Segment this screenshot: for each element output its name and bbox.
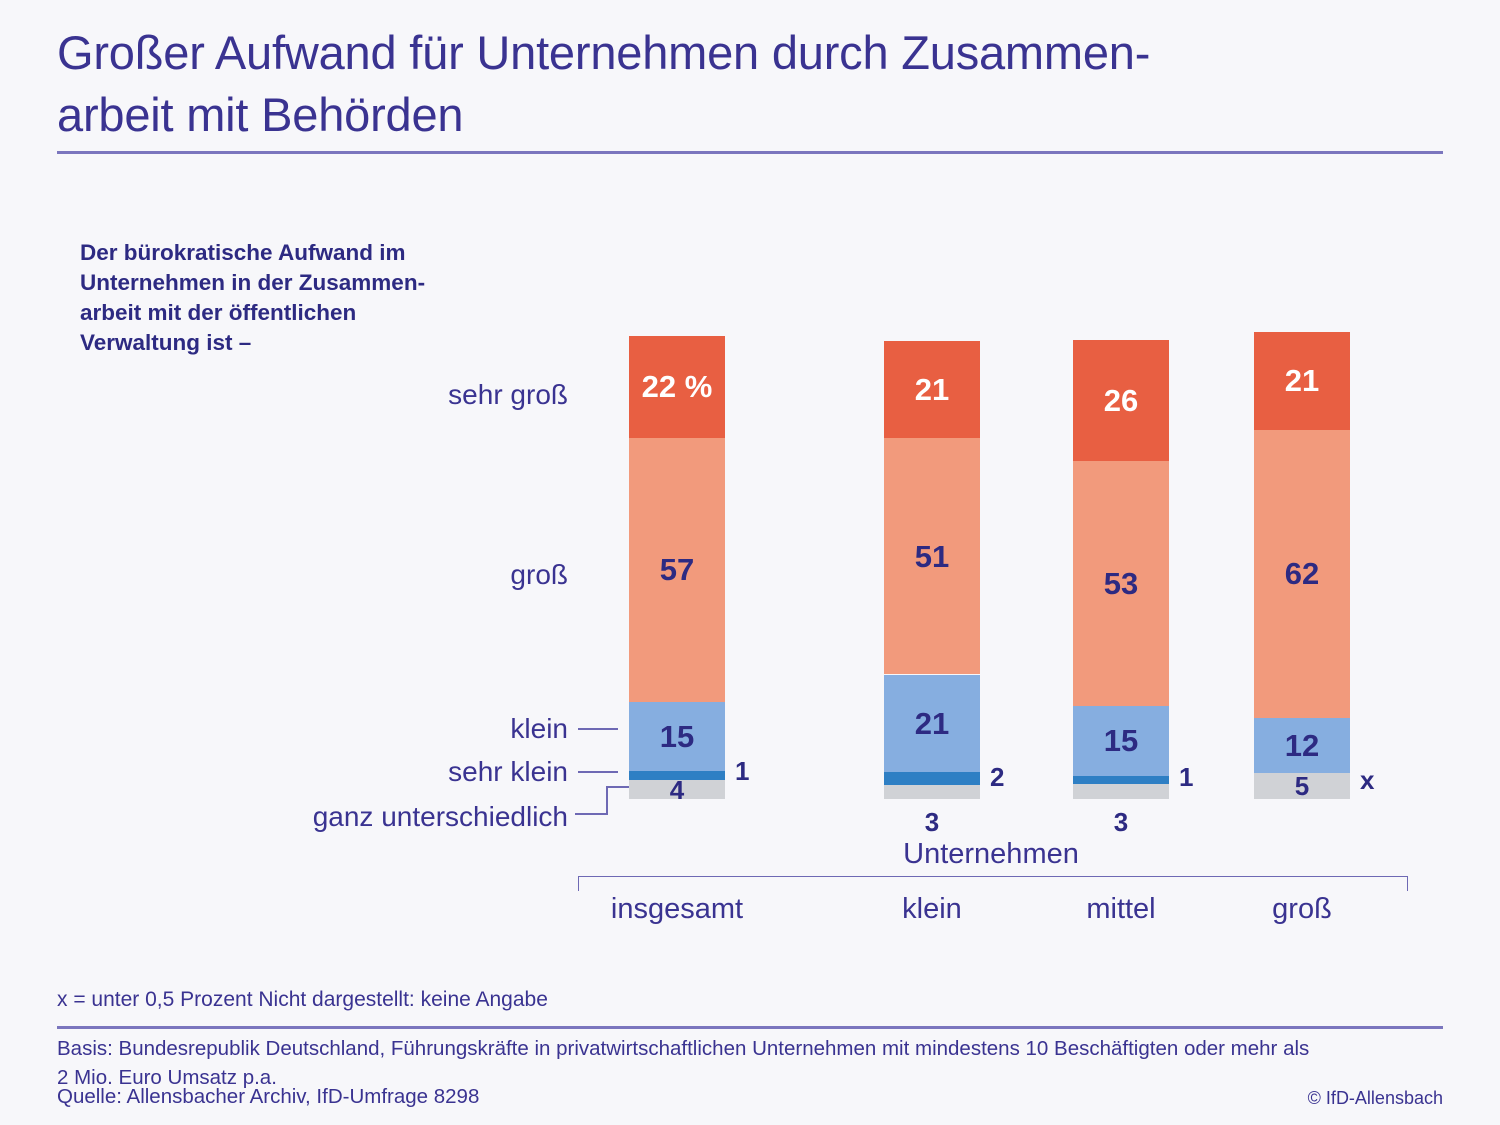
- segment-value-gross: 53: [1104, 568, 1138, 599]
- segment-ganz-unterschiedlich[interactable]: 4: [629, 780, 725, 799]
- segment-value-sehr-gross: 21: [915, 374, 949, 405]
- bar-stack: 21 51 21: [884, 341, 980, 799]
- legend-label-sehr-klein: sehr klein: [448, 758, 568, 786]
- leader-line-ganz-unterschiedlich-v: [606, 786, 608, 814]
- segment-klein[interactable]: 15: [1073, 706, 1169, 776]
- bar-stack: 22 % 57 15 4: [629, 336, 725, 799]
- x-axis-label-gross: groß: [1227, 895, 1377, 924]
- segment-sehr-klein[interactable]: [1073, 776, 1169, 785]
- segment-value-sehr-gross: 26: [1104, 385, 1138, 416]
- segment-value-sehr-gross: 22 %: [642, 371, 713, 402]
- legend-label-ganz-unterschiedlich: ganz unterschiedlich: [313, 803, 568, 831]
- footer-divider: [57, 1026, 1443, 1029]
- axis-group-title: Unternehmen: [896, 840, 1086, 869]
- segment-value-klein: 12: [1285, 730, 1319, 761]
- segment-value-sehr-klein: 2: [990, 764, 1004, 790]
- segment-value-sehr-klein: 1: [735, 758, 749, 784]
- segment-value-gross: 51: [915, 541, 949, 572]
- bar-column-klein[interactable]: 21 51 21 2 3: [884, 341, 980, 799]
- segment-value-klein: 15: [1104, 725, 1138, 756]
- leader-line-klein: [578, 728, 618, 730]
- segment-ganz-unterschiedlich[interactable]: [884, 785, 980, 799]
- segment-gross[interactable]: 53: [1073, 461, 1169, 707]
- infographic-page: Großer Aufwand für Unternehmen durch Zus…: [0, 0, 1500, 1125]
- segment-sehr-gross[interactable]: 22 %: [629, 336, 725, 438]
- segment-klein[interactable]: 15: [629, 702, 725, 772]
- segment-value-gross: 57: [660, 554, 694, 585]
- segment-sehr-gross[interactable]: 21: [1254, 332, 1350, 430]
- segment-ganz-unterschiedlich[interactable]: [1073, 784, 1169, 799]
- legend-label-klein: klein: [510, 715, 568, 743]
- copyright-text: © IfD-Allensbach: [1308, 1089, 1443, 1107]
- bar-stack: 26 53 15: [1073, 340, 1169, 799]
- footnote-x-definition: x = unter 0,5 Prozent Nicht dargestellt:…: [57, 986, 548, 1013]
- bar-column-gross[interactable]: 21 62 12 5 x: [1254, 332, 1350, 799]
- segment-gross[interactable]: 62: [1254, 430, 1350, 718]
- segment-value-klein: 15: [660, 721, 694, 752]
- stacked-bar-chart: sehr groß groß klein sehr klein ganz unt…: [0, 0, 1500, 1125]
- x-axis-label-mittel: mittel: [1046, 895, 1196, 924]
- source-text: Quelle: Allensbacher Archiv, IfD-Umfrage…: [57, 1087, 479, 1108]
- axis-brace: [578, 876, 1408, 891]
- legend-label-sehr-gross: sehr groß: [448, 381, 568, 409]
- basis-text: Basis: Bundesrepublik Deutschland, Führu…: [57, 1034, 1447, 1092]
- segment-sehr-klein[interactable]: [884, 772, 980, 785]
- segment-ganz-unterschiedlich[interactable]: 5: [1254, 773, 1350, 799]
- segment-value-sehr-gross: 21: [1285, 365, 1319, 396]
- segment-value-ganz-unterschiedlich: 3: [884, 809, 980, 835]
- segment-value-klein: 21: [915, 708, 949, 739]
- segment-value-ganz-unterschiedlich: 4: [670, 777, 684, 803]
- leader-line-sehr-klein: [578, 771, 618, 773]
- segment-sehr-gross[interactable]: 26: [1073, 340, 1169, 461]
- segment-klein[interactable]: 21: [884, 675, 980, 772]
- segment-value-ganz-unterschiedlich: 5: [1295, 773, 1309, 799]
- segment-value-sehr-klein: 1: [1179, 764, 1193, 790]
- segment-value-gross: 62: [1285, 558, 1319, 589]
- x-axis-label-klein: klein: [857, 895, 1007, 924]
- segment-value-sehr-klein: x: [1360, 767, 1374, 793]
- bar-stack: 21 62 12 5: [1254, 332, 1350, 799]
- legend-label-gross: groß: [510, 561, 568, 589]
- leader-line-ganz-unterschiedlich-h1: [575, 813, 608, 815]
- segment-sehr-gross[interactable]: 21: [884, 341, 980, 438]
- bar-column-mittel[interactable]: 26 53 15 1 3: [1073, 340, 1169, 799]
- bar-column-insgesamt[interactable]: 22 % 57 15 4 1: [629, 336, 725, 799]
- segment-value-ganz-unterschiedlich: 3: [1073, 809, 1169, 835]
- segment-gross[interactable]: 57: [629, 438, 725, 702]
- segment-klein[interactable]: 12: [1254, 718, 1350, 774]
- x-axis-label-insgesamt: insgesamt: [602, 895, 752, 924]
- segment-gross[interactable]: 51: [884, 438, 980, 674]
